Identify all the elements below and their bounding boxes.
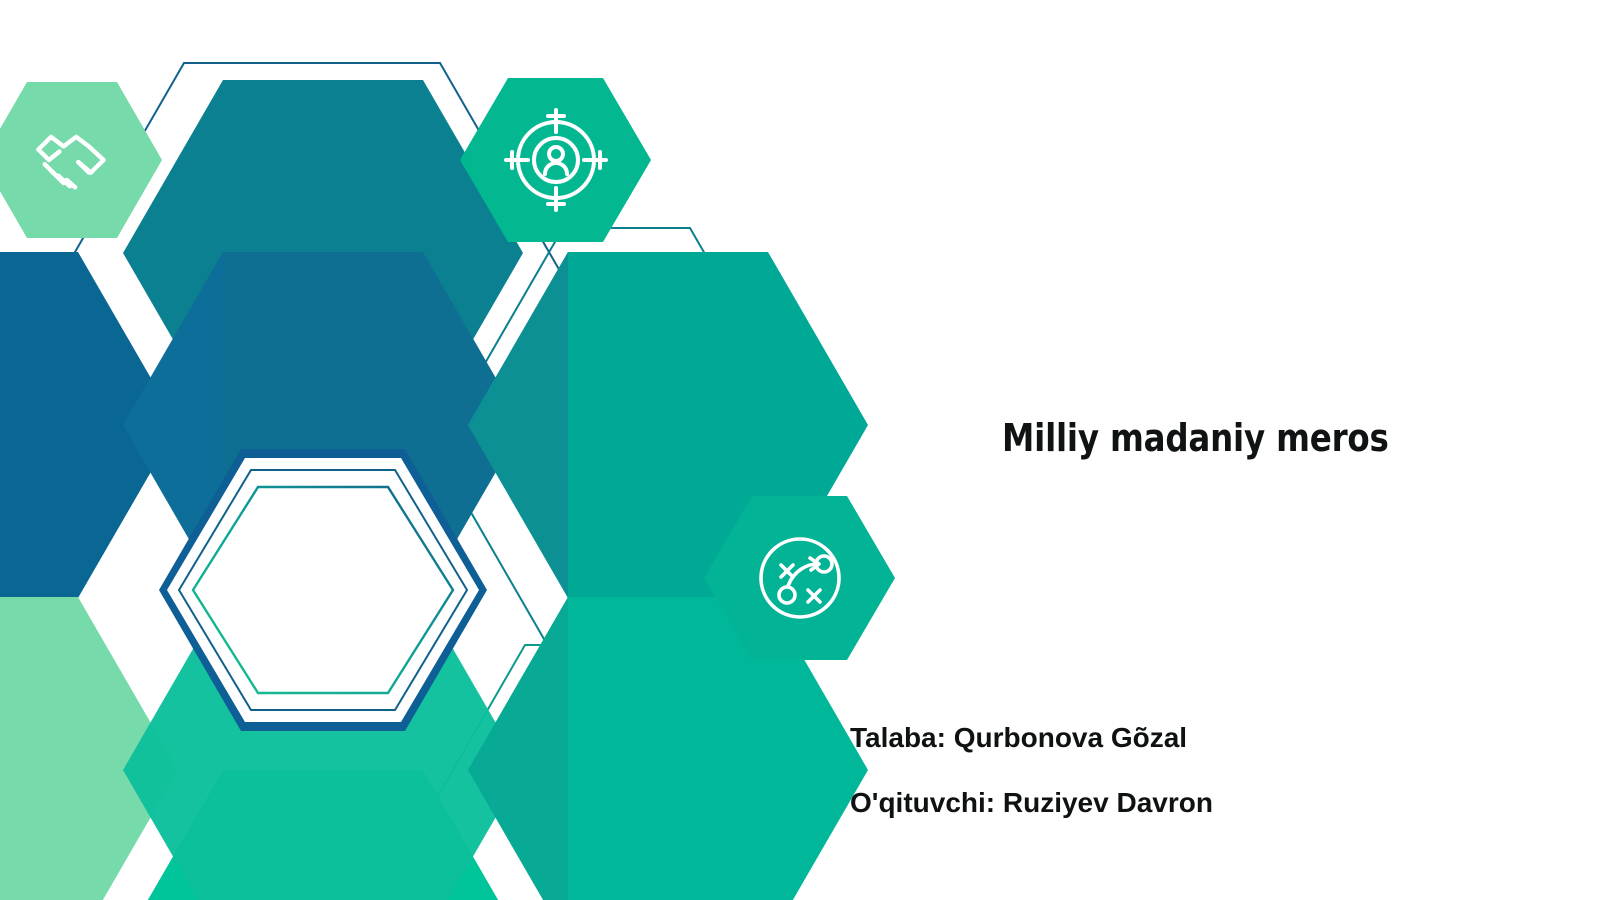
credit-teacher: O'qituvchi: Ruziyev Davron [850, 787, 1213, 819]
handshake-hexagon-shape [0, 82, 162, 238]
hexagon-overlap-wedge-lower [468, 597, 568, 900]
slide-root: Milliy madaniy meros Talaba: Qurbonova G… [0, 0, 1600, 900]
text-column: Milliy madaniy meros Talaba: Qurbonova G… [850, 0, 1550, 900]
credit-student: Talaba: Qurbonova Gõzal [850, 722, 1187, 754]
icon-hexagon-handshake [0, 82, 162, 238]
page-title: Milliy madaniy meros [1002, 416, 1389, 460]
